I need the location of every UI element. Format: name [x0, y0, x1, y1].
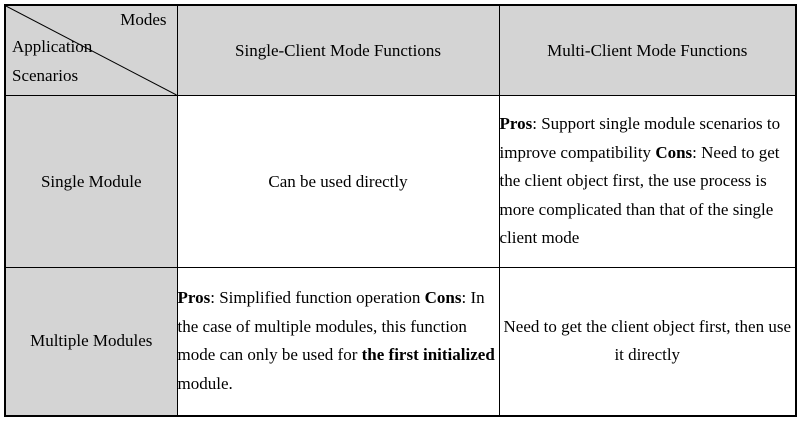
- cons-emphasis-text: the first initialized: [362, 345, 495, 364]
- corner-application-scenarios-label: Application Scenarios: [12, 32, 92, 90]
- cons-label: Cons: [655, 143, 692, 162]
- cell-multiple-modules-multi-client: Need to get the client object first, the…: [499, 268, 796, 416]
- cell-single-module-single-client: Can be used directly: [177, 96, 499, 268]
- pros-label: Pros: [178, 288, 211, 307]
- column-header-multi-client: Multi-Client Mode Functions: [499, 5, 796, 96]
- row-header-single-module: Single Module: [5, 96, 177, 268]
- pros-label: Pros: [500, 114, 533, 133]
- comparison-table-container: Modes Application Scenarios Single-Clien…: [4, 4, 797, 415]
- table-row-single-module: Single Module Can be used directly Pros:…: [5, 96, 796, 268]
- cell-single-module-multi-client: Pros: Support single module scenarios to…: [499, 96, 796, 268]
- row-header-multiple-modules: Multiple Modules: [5, 268, 177, 416]
- cons-label: Cons: [425, 288, 462, 307]
- table-header-row: Modes Application Scenarios Single-Clien…: [5, 5, 796, 96]
- cons-text-part-two: module.: [178, 374, 233, 393]
- cell-multiple-modules-single-client: Pros: Simplified function operation Cons…: [177, 268, 499, 416]
- corner-application-line: Application: [12, 32, 92, 61]
- column-header-single-client: Single-Client Mode Functions: [177, 5, 499, 96]
- corner-scenarios-line: Scenarios: [12, 61, 92, 90]
- pros-text: : Simplified function operation: [210, 288, 420, 307]
- corner-header-cell: Modes Application Scenarios: [5, 5, 177, 96]
- table-row-multiple-modules: Multiple Modules Pros: Simplified functi…: [5, 268, 796, 416]
- corner-modes-label: Modes: [120, 8, 166, 32]
- modes-vs-application-scenarios-table: Modes Application Scenarios Single-Clien…: [4, 4, 797, 417]
